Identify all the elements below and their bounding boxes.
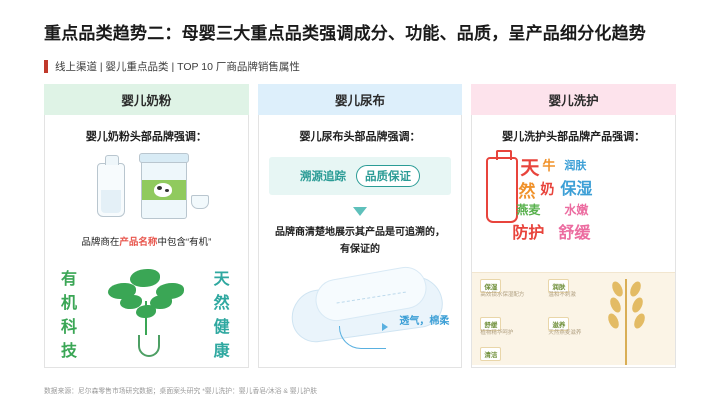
milk-powder-can-icon [141, 159, 187, 219]
wheat-panel: 保湿 高效锁水保湿配方 润肤 温和不刺激 舒缓 植物精华呵护 滋养 天然燕麦滋养… [472, 272, 675, 365]
product-tag-2-label: 舒缓 [484, 322, 497, 329]
word-0: 天 [520, 153, 539, 180]
word-1: 牛 [542, 155, 555, 174]
cow-icon [154, 183, 172, 197]
baby-bottle-icon [97, 163, 125, 217]
product-tag-4: 清洁 [480, 347, 501, 361]
product-note-2: 植物精华呵护 [480, 330, 546, 338]
column-header-diapers: 婴儿尿布 [258, 84, 463, 115]
keyword-5: 然 [214, 289, 230, 313]
milk-powder-illustration [45, 155, 248, 229]
column-header-wash-care: 婴儿洗护 [471, 84, 676, 115]
lotion-bottle-icon [486, 157, 518, 223]
diaper-icon [285, 267, 455, 345]
card-title-milk-powder: 婴儿奶粉头部品牌强调： [53, 129, 240, 146]
keyword-3: 技 [61, 337, 77, 361]
word-6: 燕麦 [516, 201, 540, 218]
keyword-4: 天 [214, 265, 230, 289]
product-tag-3-label: 滋养 [552, 322, 565, 329]
tag-traceability: 溯源追踪 [300, 168, 346, 184]
subtitle-row: 线上渠道 | 婴儿重点品类 | TOP 10 厂商品牌销售属性 [44, 59, 676, 74]
curved-arrow-icon [339, 326, 386, 349]
page-title: 重点品类趋势二：母婴三大重点品类强调成分、功能、品质，呈产品细分化趋势 [44, 22, 676, 47]
milk-powder-note: 品牌商在产品名称中包含“有机” [55, 235, 238, 250]
keyword-1: 机 [61, 289, 77, 313]
word-7: 水嫩 [564, 201, 588, 218]
keyword-7: 康 [214, 337, 230, 361]
diaper-tag-row: 溯源追踪 品质保证 [269, 157, 452, 195]
product-tag-2: 舒缓 [480, 317, 501, 331]
source-note: 数据来源：尼尔森零售市场研究数据；桌面案头研究 *婴儿洗护：婴儿香皂/沐浴 & … [44, 385, 317, 395]
note-post: 中包含“有机” [157, 237, 211, 248]
subtitle: 线上渠道 | 婴儿重点品类 | TOP 10 厂商品牌销售属性 [55, 59, 300, 74]
product-note-1: 温和不刺激 [548, 292, 614, 300]
word-2: 润肤 [564, 157, 586, 173]
product-note-0: 高效锁水保湿配方 [480, 292, 546, 300]
product-tag-3: 滋养 [548, 317, 569, 331]
card-title-diapers: 婴儿尿布头部品牌强调： [267, 129, 454, 146]
product-tag-0: 保湿 [480, 279, 501, 293]
word-4: 奶 [540, 179, 554, 199]
word-3: 然 [518, 177, 535, 202]
scoop-icon [191, 195, 209, 209]
note-pre: 品牌商在 [81, 237, 119, 248]
column-wash-care: 婴儿洗护 婴儿洗护头部品牌产品强调： 天 牛 润肤 然 奶 保湿 燕麦 水嫩 防… [471, 84, 676, 368]
word-5: 保湿 [560, 175, 592, 199]
word-8: 防护 [512, 219, 544, 243]
note-highlight: 产品名称 [119, 237, 157, 248]
wheat-icon [591, 277, 661, 365]
keyword-cloud-milk-powder: 有 机 科 技 天 然 健 康 [45, 263, 248, 359]
product-tag-0-label: 保湿 [484, 284, 497, 291]
card-title-wash-care: 婴儿洗护头部品牌产品强调： [480, 129, 667, 146]
product-tag-1-label: 润肤 [552, 284, 565, 291]
columns: 婴儿奶粉 婴儿奶粉头部品牌强调： 品牌商在产品名称中包含“有机” 有 [44, 84, 676, 368]
tag-quality-guarantee: 品质保证 [356, 165, 420, 187]
product-tag-1: 润肤 [548, 279, 569, 293]
column-body-wash-care: 婴儿洗护头部品牌产品强调： 天 牛 润肤 然 奶 保湿 燕麦 水嫩 防护 舒缓 [471, 115, 676, 368]
diaper-note: 品牌商清楚地展示其产品是可追溯的，有保证的 [273, 224, 448, 258]
keyword-2: 科 [61, 313, 77, 337]
keyword-cloud-wash-care: 天 牛 润肤 然 奶 保湿 燕麦 水嫩 防护 舒缓 [472, 153, 675, 245]
keyword-6: 健 [214, 313, 230, 337]
accent-bar [44, 60, 48, 73]
column-body-milk-powder: 婴儿奶粉头部品牌强调： 品牌商在产品名称中包含“有机” 有 机 [44, 115, 249, 368]
column-milk-powder: 婴儿奶粉 婴儿奶粉头部品牌强调： 品牌商在产品名称中包含“有机” 有 [44, 84, 249, 368]
product-tag-4-label: 清洁 [484, 352, 497, 359]
product-note-3: 天然燕麦滋养 [548, 330, 614, 338]
plant-sprout-icon [100, 265, 192, 357]
column-diapers: 婴儿尿布 婴儿尿布头部品牌强调： 溯源追踪 品质保证 品牌商清楚地展示其产品是可… [258, 84, 463, 368]
down-arrow-icon [353, 207, 367, 216]
word-9: 舒缓 [558, 219, 590, 243]
column-body-diapers: 婴儿尿布头部品牌强调： 溯源追踪 品质保证 品牌商清楚地展示其产品是可追溯的，有… [258, 115, 463, 368]
keyword-0: 有 [61, 265, 77, 289]
can-lid [139, 153, 189, 163]
column-header-milk-powder: 婴儿奶粉 [44, 84, 249, 115]
diaper-keyword: 透气，棉柔 [399, 312, 449, 327]
slide: 重点品类趋势二：母婴三大重点品类强调成分、功能、品质，呈产品细分化趋势 线上渠道… [0, 0, 720, 405]
